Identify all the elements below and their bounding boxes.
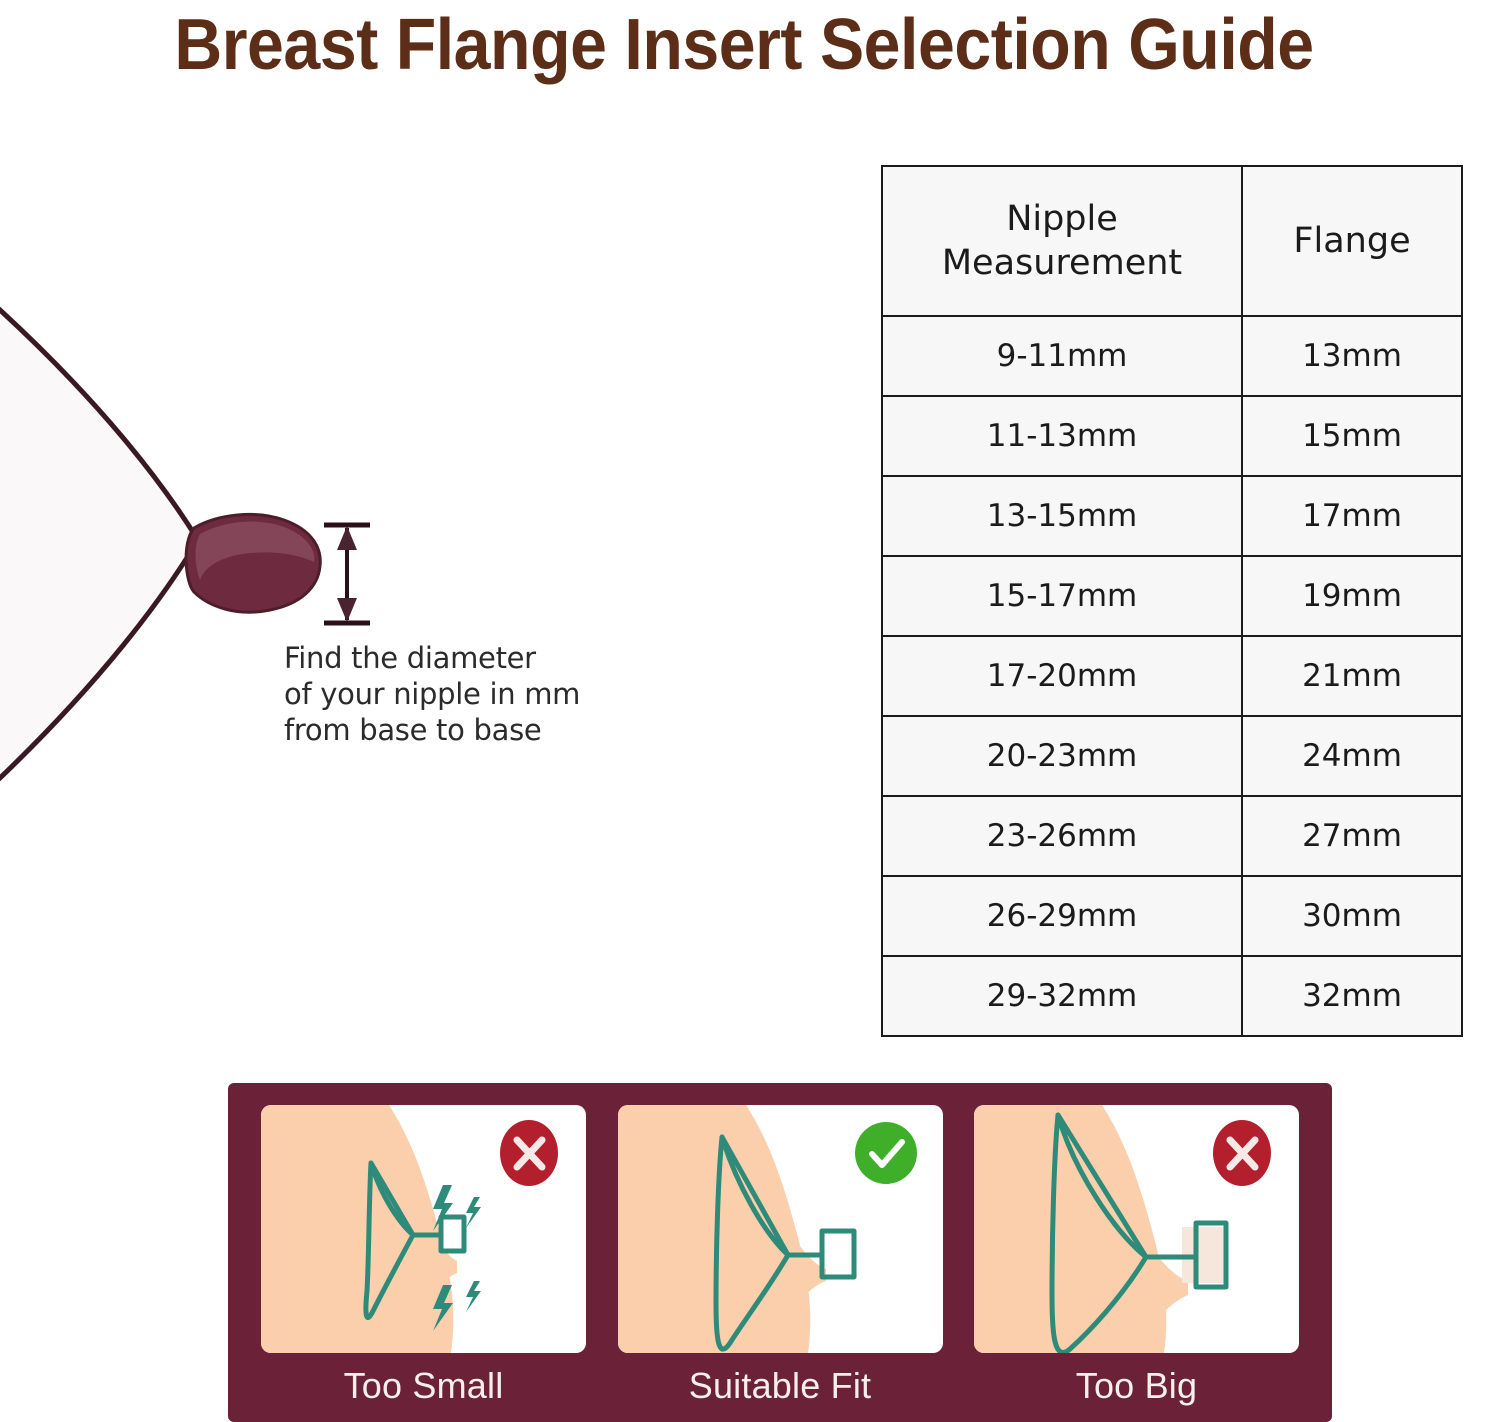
instruction-line-1: Find the diameter [284,640,624,676]
table-row: 15-17mm19mm [882,556,1462,636]
fit-comparison-panel: Too SmallSuitable FitToo Big [228,1083,1332,1422]
cell-nipple-measurement: 11-13mm [882,396,1242,476]
table-row: 17-20mm21mm [882,636,1462,716]
cross-icon [500,1120,558,1186]
cell-flange-size: 27mm [1242,796,1462,876]
cell-flange-size: 32mm [1242,956,1462,1036]
check-icon [855,1122,917,1184]
cell-nipple-measurement: 26-29mm [882,876,1242,956]
table-row: 13-15mm17mm [882,476,1462,556]
cell-flange-size: 13mm [1242,316,1462,396]
table-body: 9-11mm13mm11-13mm15mm13-15mm17mm15-17mm1… [882,316,1462,1036]
table-row: 11-13mm15mm [882,396,1462,476]
header-nipple-line1: Nipple [883,197,1241,241]
fit-cards-container: Too SmallSuitable FitToo Big [228,1083,1332,1422]
cell-flange-size: 30mm [1242,876,1462,956]
fit-item: Suitable Fit [618,1105,943,1422]
cell-nipple-measurement: 9-11mm [882,316,1242,396]
instruction-line-3: from base to base [284,712,624,748]
measurement-arrow-icon [312,518,382,630]
column-header-nipple-measurement: Nipple Measurement [882,166,1242,316]
cell-nipple-measurement: 20-23mm [882,716,1242,796]
cell-nipple-measurement: 13-15mm [882,476,1242,556]
breast-outline [0,130,198,960]
cross-icon [1213,1120,1271,1186]
cell-nipple-measurement: 17-20mm [882,636,1242,716]
cell-nipple-measurement: 23-26mm [882,796,1242,876]
table-row: 23-26mm27mm [882,796,1462,876]
cell-flange-size: 19mm [1242,556,1462,636]
cell-flange-size: 24mm [1242,716,1462,796]
fit-label: Too Big [1076,1365,1197,1407]
fit-item: Too Big [974,1105,1299,1422]
fit-label: Suitable Fit [689,1365,872,1407]
table-row: 20-23mm24mm [882,716,1462,796]
table-row: 26-29mm30mm [882,876,1462,956]
breast-profile-illustration [0,130,330,960]
table-header-row: Nipple Measurement Flange [882,166,1462,316]
cell-flange-size: 21mm [1242,636,1462,716]
cell-flange-size: 15mm [1242,396,1462,476]
column-header-flange: Flange [1242,166,1462,316]
cell-nipple-measurement: 29-32mm [882,956,1242,1036]
fit-illustration-bad [974,1105,1299,1353]
table-header: Nipple Measurement Flange [882,166,1462,316]
flange-size-table: Nipple Measurement Flange 9-11mm13mm11-1… [881,165,1463,1037]
table-row: 9-11mm13mm [882,316,1462,396]
instruction-line-2: of your nipple in mm [284,676,624,712]
cell-flange-size: 17mm [1242,476,1462,556]
fit-illustration-bad [261,1105,586,1353]
fit-label: Too Small [344,1365,504,1407]
measurement-instruction: Find the diameter of your nipple in mm f… [284,640,624,748]
fit-item: Too Small [261,1105,586,1422]
header-nipple-line2: Measurement [883,241,1241,285]
cell-nipple-measurement: 15-17mm [882,556,1242,636]
page-title: Breast Flange Insert Selection Guide [60,2,1429,88]
fit-illustration-good [618,1105,943,1353]
table-row: 29-32mm32mm [882,956,1462,1036]
